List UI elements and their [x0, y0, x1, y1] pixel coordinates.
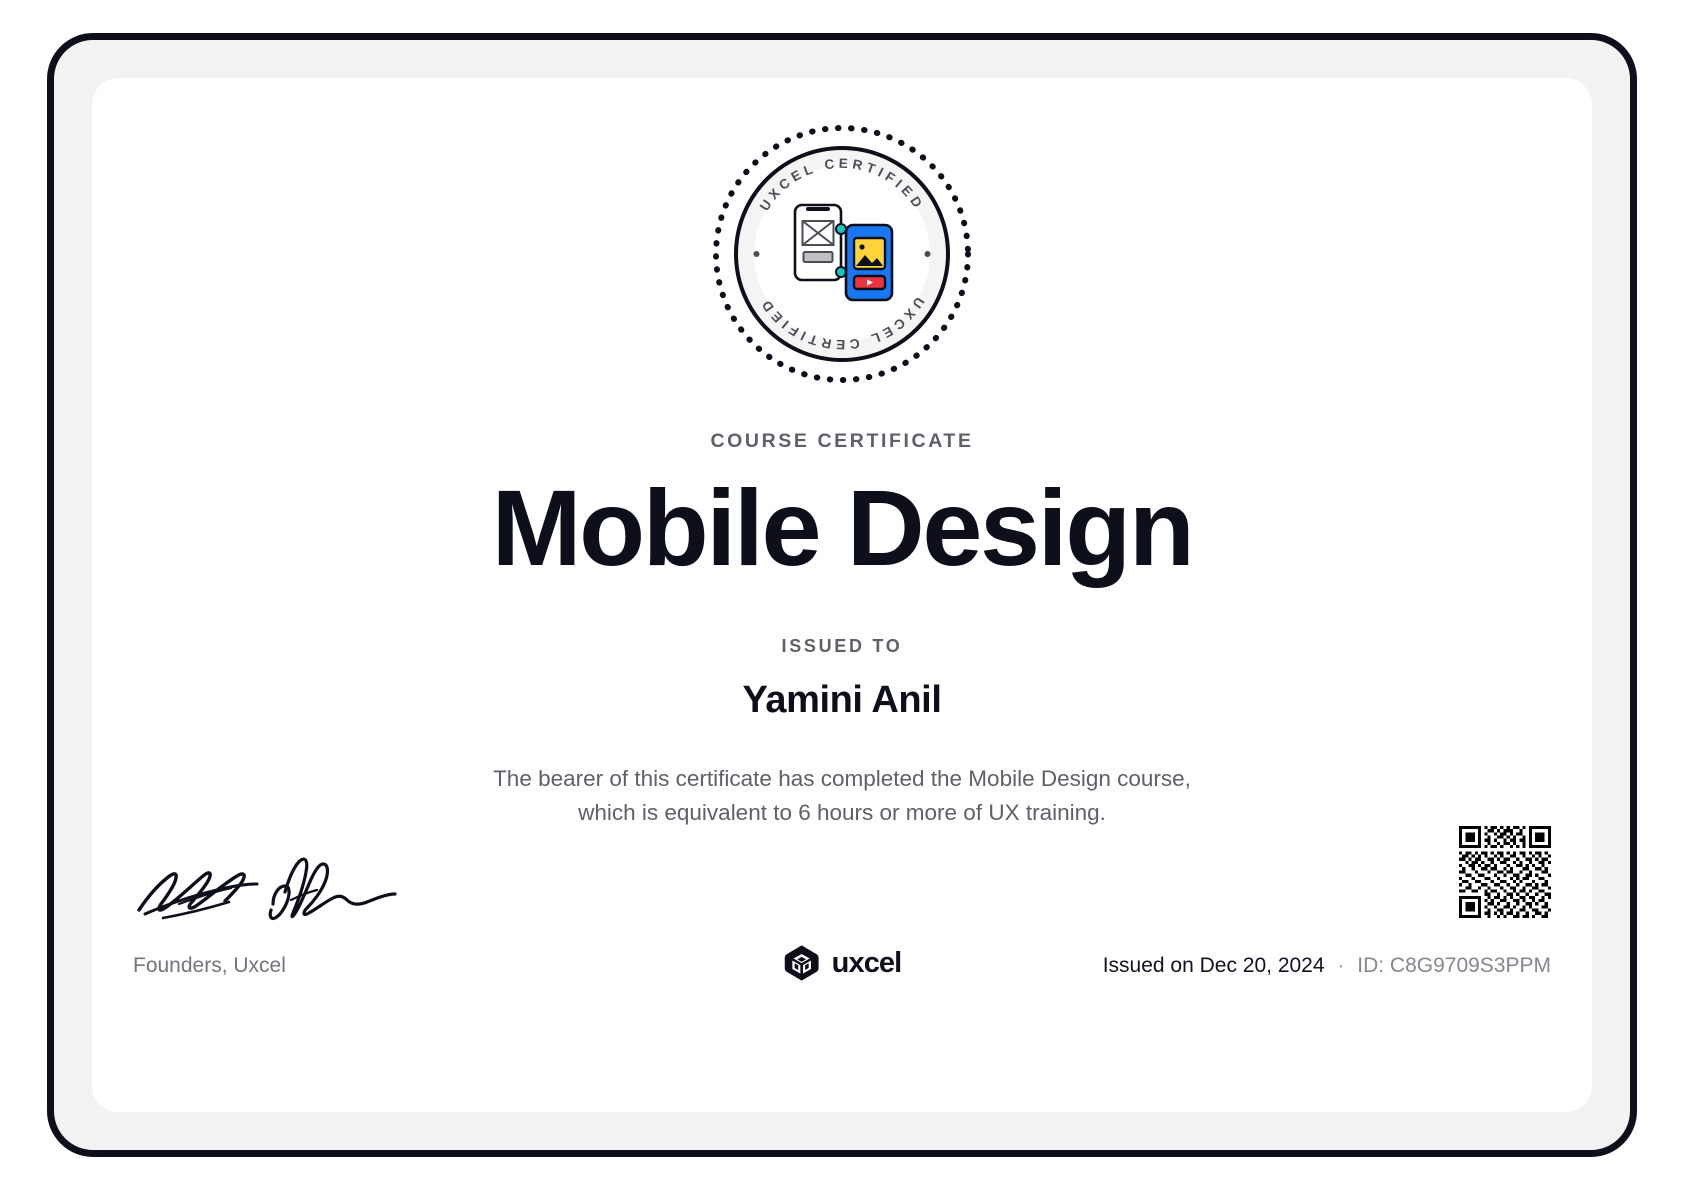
- verification-qr-code[interactable]: [1459, 826, 1551, 918]
- uxcel-wordmark: uxcel: [832, 947, 902, 980]
- uxcel-hexagon-icon: [783, 944, 821, 982]
- founders-label: Founders, Uxcel: [133, 954, 286, 978]
- meta-separator: ·: [1330, 954, 1351, 977]
- signature-one: [139, 873, 244, 910]
- founder-signatures: [133, 838, 433, 922]
- certificate-frame: UXCEL CERTIFIED UXCEL CERTIFIED: [47, 33, 1637, 1157]
- certificate-description: The bearer of this certificate has compl…: [92, 762, 1592, 830]
- recipient-name: Yamini Anil: [92, 679, 1592, 722]
- course-title: Mobile Design: [92, 470, 1592, 587]
- seal-bullet-left: [754, 251, 760, 257]
- connector-node-bottom: [836, 267, 846, 277]
- eyebrow-label: COURSE CERTIFICATE: [92, 430, 1592, 453]
- description-line-1: The bearer of this certificate has compl…: [92, 762, 1592, 796]
- issued-to-label: ISSUED TO: [92, 636, 1592, 657]
- uxcel-logo: uxcel: [783, 944, 902, 982]
- issue-metadata: Issued on Dec 20, 2024 · ID: C8G9709S3PP…: [1103, 954, 1551, 978]
- seal-bullet-right: [925, 251, 931, 257]
- certification-seal: UXCEL CERTIFIED UXCEL CERTIFIED: [709, 121, 975, 387]
- connector-node-top: [836, 224, 846, 234]
- certificate-card: UXCEL CERTIFIED UXCEL CERTIFIED: [92, 78, 1592, 1112]
- description-line-2: which is equivalent to 6 hours or more o…: [92, 796, 1592, 830]
- issue-date: Issued on Dec 20, 2024: [1103, 954, 1325, 977]
- certificate-id: ID: C8G9709S3PPM: [1357, 954, 1551, 977]
